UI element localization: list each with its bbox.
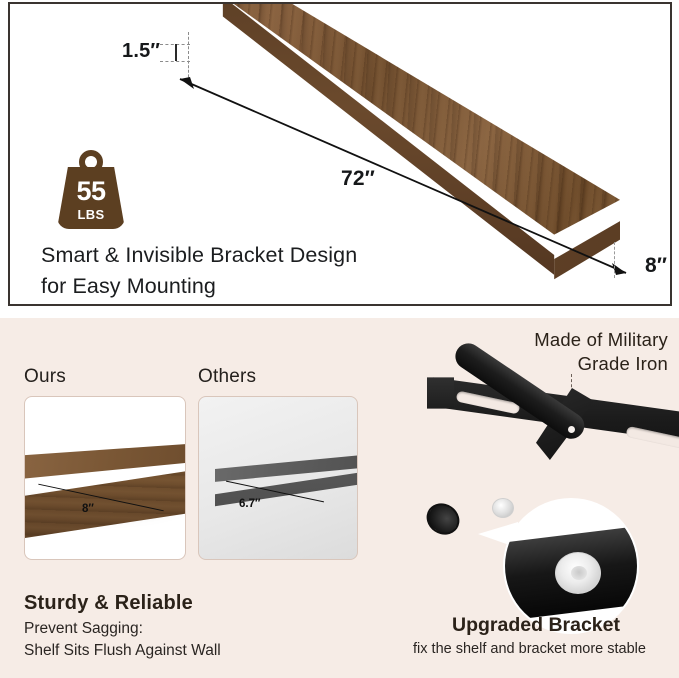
thickness-guide-upper [188,32,189,54]
depth-guide-left [614,242,615,278]
top-headline: Smart & Invisible Bracket Design for Eas… [41,240,357,302]
military-iron-line-1: Made of Military [400,328,668,352]
dimension-thickness-label: 1.5″ [122,40,160,63]
sturdy-heading: Sturdy & Reliable [24,592,193,615]
ours-dimension-label: 8″ [82,503,94,515]
bracket-screw-cap [492,498,514,518]
dimension-depth-label: 8″ [645,254,667,278]
headline-line-1: Smart & Invisible Bracket Design [41,240,357,271]
shelf-illustration-stage: 1.5″ 72″ 8″ 55 LBS Smart & Invis [10,4,670,304]
bracket-rod-end [421,497,466,541]
weight-icon-body: 55 LBS [57,167,125,229]
shelf-front-face [150,4,620,276]
weight-unit: LBS [78,208,105,221]
comparison-label-others: Others [198,366,256,388]
bracket-plate-end [424,370,454,416]
headline-line-2: for Easy Mounting [41,271,357,302]
ours-shelf-front-face [24,469,186,560]
comparison-label-ours: Ours [24,366,66,388]
military-iron-heading: Made of Military Grade Iron [400,328,668,376]
magnified-screw-cap [555,552,601,594]
dimension-length-label: 72″ [341,167,375,191]
sturdy-subtext-line-2: Shelf Sits Flush Against Wall [24,640,221,662]
comparison-card-others: 6.7″ [198,396,358,560]
others-dimension-label: 6.7″ [239,498,261,510]
ours-shelf-illustration: 8″ [25,397,185,559]
top-panel: 1.5″ 72″ 8″ 55 LBS Smart & Invis [8,2,672,306]
product-infographic: 1.5″ 72″ 8″ 55 LBS Smart & Invis [0,0,679,678]
sturdy-subtext-line-1: Prevent Sagging: [24,618,221,640]
thickness-tick [175,44,177,61]
comparison-card-ours: 8″ [24,396,186,560]
others-shelf-illustration: 6.7″ [199,397,357,559]
thickness-extension-line-bottom [160,61,190,62]
weight-capacity-badge: 55 LBS [57,150,125,236]
upgraded-bracket-subtext: fix the shelf and bracket more stable [380,641,679,657]
thickness-guide-lower [188,56,189,82]
magnified-screw-view [505,500,637,632]
weight-value: 55 [76,178,105,205]
sturdy-subtext: Prevent Sagging: Shelf Sits Flush Agains… [24,618,221,663]
bracket-illustration [400,370,679,630]
upgraded-bracket-heading: Upgraded Bracket [400,614,672,637]
bracket-pivot-hole [568,426,575,433]
